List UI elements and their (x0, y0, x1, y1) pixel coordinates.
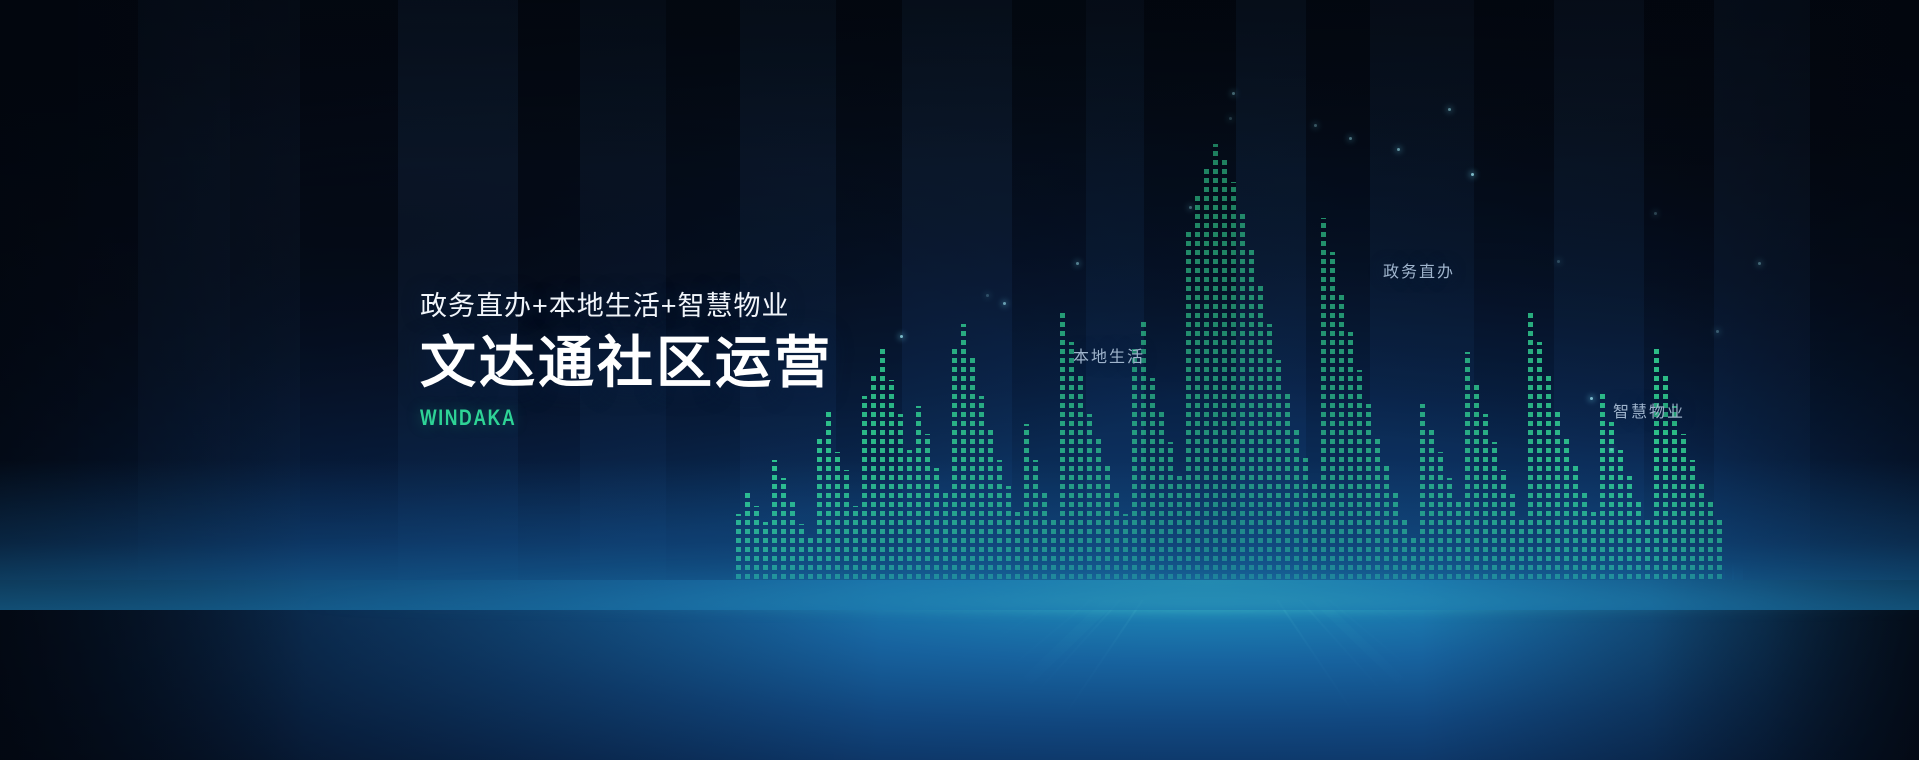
feature-label-2: 本地生活 (1073, 343, 1145, 367)
headline-copy-block: 政务直办+本地生活+智慧物业 文达通社区运营 WINDAKA (420, 292, 833, 431)
feature-label-3: 智慧物业 (1613, 398, 1685, 422)
page-title: 文达通社区运营 (420, 334, 833, 393)
feature-label-1: 政务直办 (1383, 258, 1455, 282)
eyebrow-text: 政务直办+本地生活+智慧物业 (420, 292, 833, 322)
feature-labels-layer: 政务直办本地生活智慧物业 (0, 0, 1919, 760)
hero-banner: 政务直办本地生活智慧物业 政务直办+本地生活+智慧物业 文达通社区运营 WIND… (0, 0, 1919, 760)
brand-wordmark: WINDAKA (420, 405, 750, 431)
